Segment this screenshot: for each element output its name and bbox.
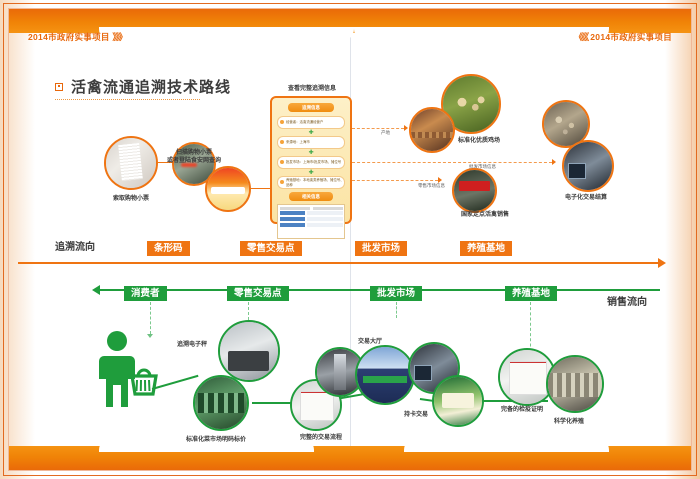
header-left-label: 2014市政府实事项目 (28, 32, 110, 42)
chevron-left-icon: 《《《 (574, 32, 588, 42)
section-title-underline (55, 99, 200, 100)
drop-line-retail (248, 302, 249, 320)
drop-line-wholesale (396, 302, 397, 318)
arrow-label-farm: 产地 (381, 130, 390, 137)
panel-row-1: 来源地：上海市 (277, 136, 345, 149)
dashed-link-farm (352, 128, 404, 129)
mini-table-head (280, 207, 343, 210)
header-right: 《《《 2014市政府实事项目 (574, 30, 672, 43)
photo-breeding-house-image (548, 357, 602, 411)
chevron-right-icon: 》》》 (112, 32, 126, 42)
photo-trade-card-image (434, 377, 482, 425)
panel-row-3: 养殖基地：本地禽类养殖场、摊位号、品种 (277, 176, 345, 189)
section-title-text: 活禽流通追溯技术路线 (71, 76, 231, 97)
sales-tag-0: 消费者 (124, 286, 167, 301)
sales-band-end-label: 销售流向 (607, 293, 647, 308)
sales-tag-1: 零售交易点 (227, 286, 289, 301)
photo-trade-card (432, 375, 484, 427)
connector-kiosk-panel (251, 188, 271, 189)
mini-table-row (280, 211, 343, 216)
trace-band-rule (18, 262, 658, 264)
arrow-label-retail: 零售市场信息 (418, 183, 445, 190)
caption-quarantine: 完备的检疫证明 (501, 406, 543, 415)
plus-icon-2: ✚ (277, 171, 345, 175)
photo-market-building-image (357, 347, 413, 403)
square-bullet-icon (55, 83, 63, 91)
center-fold-line (350, 9, 351, 470)
section-title: 活禽流通追溯技术路线 (55, 76, 231, 97)
photo-live-chickens-image (544, 102, 588, 146)
caption-scale: 追溯电子秤 (177, 341, 207, 350)
panel-header: 追溯信息 (288, 103, 334, 112)
row-dot-icon (280, 180, 284, 184)
photo-kiosk-image (207, 168, 249, 210)
trace-band-end-label: 追溯流向 (55, 238, 95, 253)
panel-row-0: 经营者：活禽流通经营户 (277, 116, 345, 129)
photo-market-price-image (195, 377, 247, 429)
row-dot-icon (280, 160, 284, 164)
bar-notch-right (354, 27, 609, 41)
photo-market-building (355, 345, 415, 405)
panel-row-2: 批发市场：上海市/批发市场、摊位号 (277, 156, 345, 169)
trace-arrow-right-icon (658, 258, 666, 268)
sales-arrow-left-icon (92, 285, 100, 295)
caption-scan-line2: 或者登陆食安网查询 (148, 157, 240, 166)
trace-tag-1: 零售交易点 (240, 241, 302, 256)
panel-row-2-text: 批发市场：上海市/批发市场、摊位号 (286, 160, 341, 164)
panel-title: 查看完整追溯信息 (266, 83, 358, 92)
plus-icon-1: ✚ (277, 151, 345, 155)
panel-sub-header: 相关信息 (289, 192, 333, 201)
panel-row-1-text: 来源地：上海市 (286, 140, 310, 144)
row-dot-icon (280, 140, 284, 144)
photo-kiosk (205, 166, 251, 212)
caption-card-trade: 持卡交易 (404, 411, 428, 420)
caption-market-price: 标准化菜市场明码标价 (186, 436, 246, 445)
caption-retail-shop: 国家定点活禽销售 (461, 211, 509, 220)
arrow-to-farm-icon (404, 125, 408, 131)
consumer-person-icon (96, 330, 158, 408)
photo-coop (409, 107, 455, 153)
trace-tag-0: 条形码 (147, 241, 190, 256)
photo-breeding-house (546, 355, 604, 413)
panel-row-0-text: 经营者：活禽流通经营户 (286, 120, 323, 124)
bottom-bar-notch-right (404, 438, 609, 452)
dashed-link-wholesale (352, 162, 552, 163)
panel-row-3-text: 养殖基地：本地禽类养殖场、摊位号、品种 (286, 178, 344, 187)
caption-receipt: 索取购物小票 (96, 195, 166, 204)
bar-notch-left (99, 27, 354, 41)
photo-settlement-office (562, 140, 614, 192)
photo-retail-shop-image (454, 170, 495, 211)
arrow-to-wholesale-icon (552, 159, 556, 165)
plus-icon-0: ✚ (277, 131, 345, 135)
connector-basket-scale (152, 375, 199, 390)
mini-table-row (280, 223, 343, 228)
header-right-label: 2014市政府实事项目 (590, 32, 672, 42)
caption-settlement: 电子化交易结算 (565, 194, 607, 203)
dashed-link-retail (352, 180, 438, 181)
header-left: 2014市政府实事项目 》》》 (28, 30, 126, 43)
sales-tag-3: 养殖基地 (505, 286, 557, 301)
caption-farm: 标准化优质鸡场 (458, 137, 500, 146)
photo-retail-shop (452, 168, 497, 213)
photo-coop-image (411, 109, 453, 151)
caption-breeding: 科学化养殖 (554, 418, 584, 427)
photo-settlement-office-image (564, 142, 612, 190)
poster-page: 2014市政府实事项目 》》》 《《《 2014市政府实事项目 活禽流通追溯技术… (0, 0, 700, 479)
sales-tag-2: 批发市场 (370, 286, 422, 301)
panel-mini-table (277, 204, 345, 239)
row-dot-icon (280, 120, 284, 124)
photo-market-price (193, 375, 249, 431)
bottom-orange-bar (9, 446, 691, 470)
mini-table-row (280, 217, 343, 222)
trace-tag-3: 养殖基地 (460, 241, 512, 256)
trace-info-panel: 追溯信息 经营者：活禽流通经营户 ✚ 来源地：上海市 ✚ 批发市场：上海市/批发… (270, 96, 352, 224)
caption-trade-process: 完整的交易流程 (300, 434, 342, 443)
photo-electronic-scale-image (220, 322, 278, 380)
photo-electronic-scale (218, 320, 280, 382)
trace-tag-2: 批发市场 (355, 241, 407, 256)
